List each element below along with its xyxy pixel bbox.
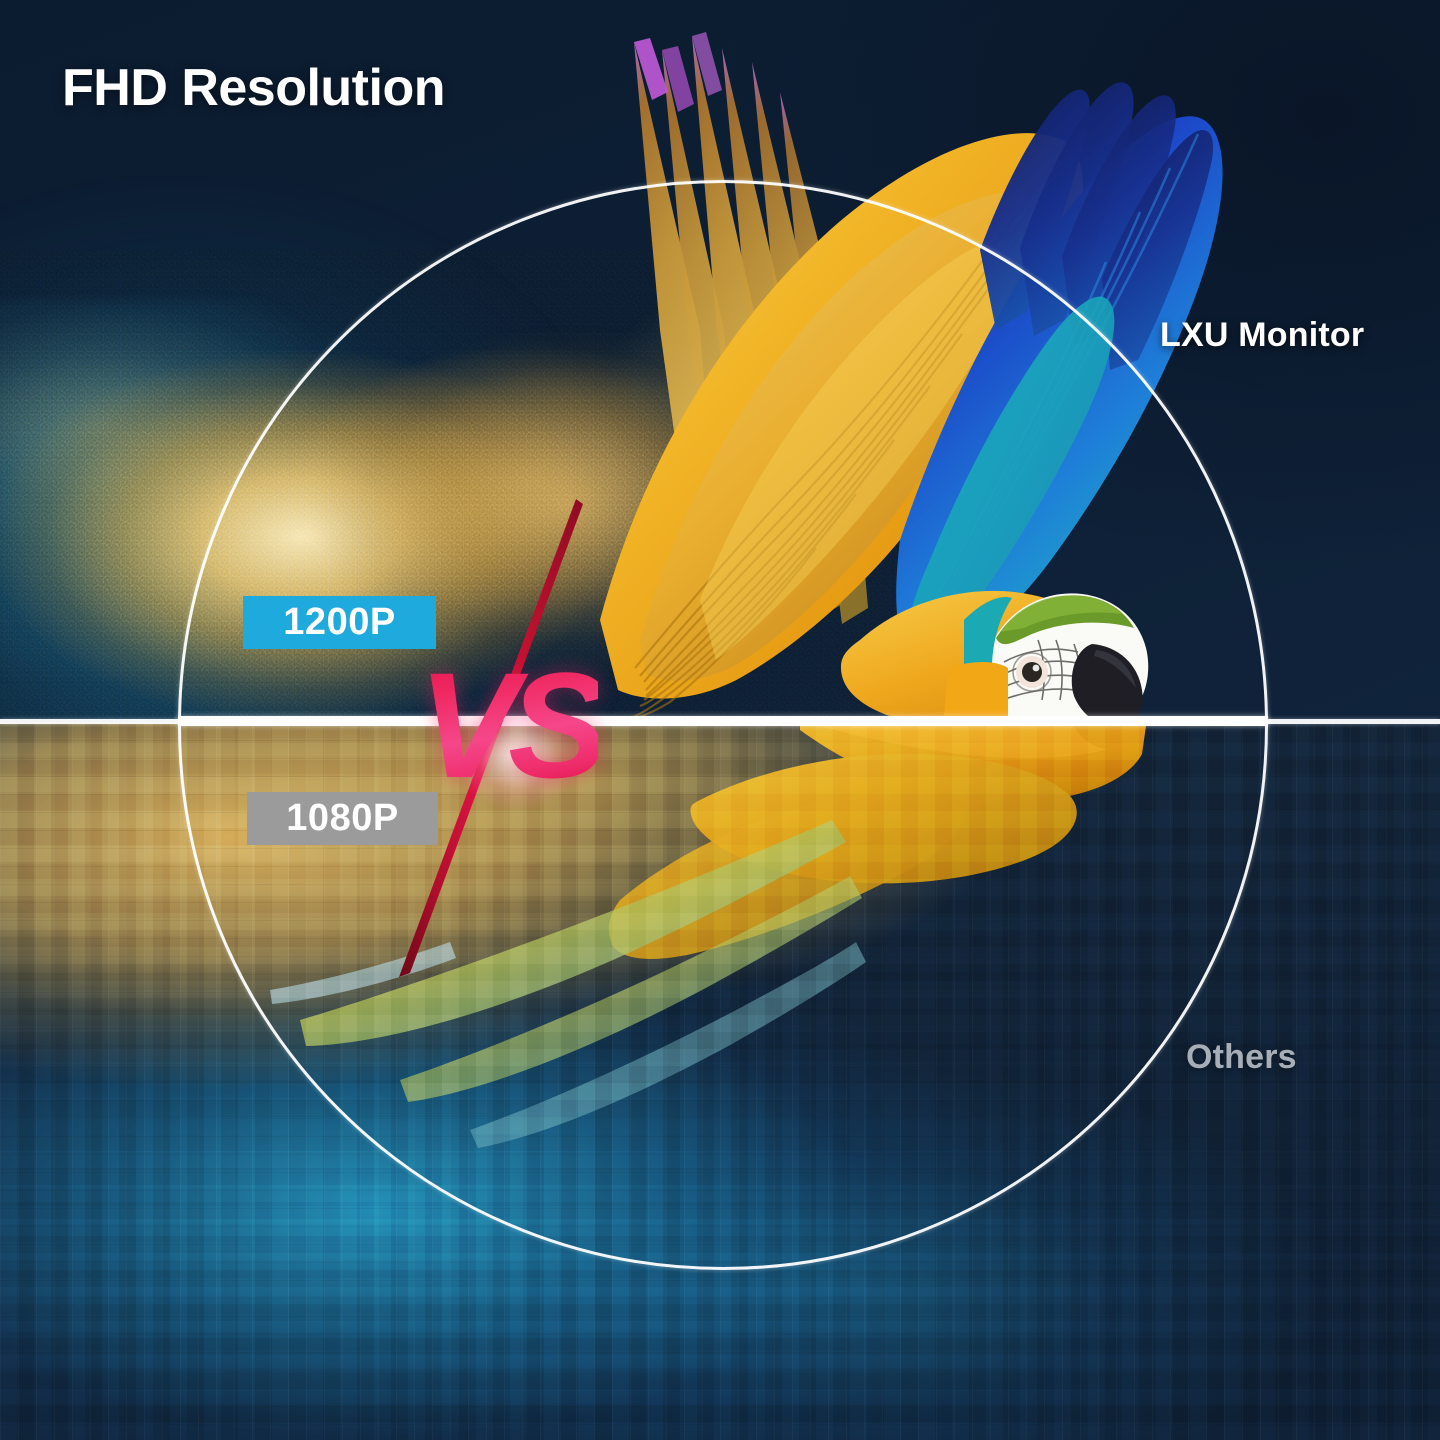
badge-1080p: 1080P: [247, 792, 438, 845]
vs-label: VS: [418, 650, 598, 800]
page-title: FHD Resolution: [62, 58, 445, 118]
badge-1200p: 1200P: [243, 596, 436, 649]
label-lxu-monitor: LXU Monitor: [1160, 316, 1364, 355]
label-others: Others: [1186, 1038, 1297, 1077]
split-line-inner: [178, 716, 1268, 726]
product-comparison-image: VS FHD Resolution LXU Monitor Others 120…: [0, 0, 1440, 1440]
